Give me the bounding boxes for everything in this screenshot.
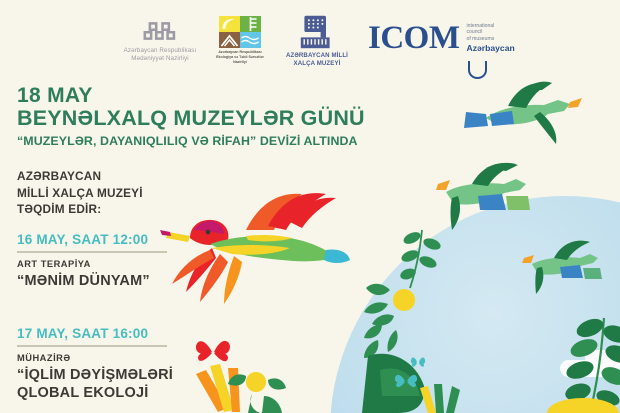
event-item: 17 MAY, SAAT 16:00 MÜHAZİRƏ “İQLİM DƏYİŞ… — [17, 326, 173, 402]
green-leaf-plants-illustration — [540, 318, 620, 413]
icom-wordmark: ICOM — [368, 22, 460, 55]
green-leaf-plants-illustration — [188, 352, 328, 413]
icom-subtitle-line: of museums — [467, 36, 515, 43]
red-and-teal-butterflies-illustration — [394, 372, 418, 390]
logo-caption-line: Nazirliyi — [233, 60, 247, 64]
icom-subtitle-line: council — [467, 29, 515, 36]
icom-country: Azərbaycan — [467, 43, 515, 54]
event-name: “MƏNİM DÜNYAM” — [17, 272, 167, 290]
light-blue-sky-circle — [330, 196, 620, 413]
event-name-line: “İQLİM DƏYİŞMƏLƏRİ — [17, 366, 173, 384]
green-blue-flying-birds-illustration — [520, 238, 620, 298]
logo-row: Azərbaycan Respublikası Mədəniyyət Nazir… — [0, 8, 620, 66]
colorful-paradise-bird-illustration — [150, 192, 350, 312]
logo-caption-line: AZƏRBAYCAN MİLLİ — [286, 52, 348, 59]
logo-caption-line: Azərbaycan Respublikası — [218, 50, 261, 54]
event-name: “İQLİM DƏYİŞMƏLƏRİ QLOBAL EKOLOJİ — [17, 366, 173, 402]
page-title: BEYNƏLXALQ MUZEYLƏR GÜNÜ — [17, 106, 365, 131]
green-leaf-plants-illustration — [545, 392, 620, 413]
headline-motto: “MUZEYLƏR, DAYANIQLILIQ VƏ RİFAH” DEVİZİ… — [17, 134, 358, 148]
red-and-teal-butterflies-illustration — [410, 356, 426, 369]
logo-caption: AZƏRBAYCAN MİLLİ XALÇA MUZEYİ — [286, 52, 348, 68]
logo-caption: Azərbaycan Respublikası Mədəniyyət Nazir… — [124, 47, 197, 64]
presenter-line: AZƏRBAYCAN — [17, 168, 143, 185]
sun-quadrant — [219, 16, 240, 32]
logo-caption-line: Mədəniyyət Nazirliyi — [131, 55, 189, 62]
red-and-teal-butterflies-illustration — [196, 338, 230, 366]
white-cloud — [560, 360, 620, 377]
presenter-block: AZƏRBAYCAN MİLLİ XALÇA MUZEYİ TƏQDİM EDİ… — [17, 168, 143, 218]
interlaced-knot-icon — [141, 18, 179, 44]
four-quadrant-nature-icon — [219, 16, 261, 48]
logo-caption-line: XALÇA MUZEYİ — [294, 60, 341, 67]
presenter-line: MİLLİ XALÇA MUZEYİ — [17, 185, 143, 202]
poster-canvas: Azərbaycan Respublikası Mədəniyyət Nazir… — [0, 0, 620, 413]
green-blue-flying-birds-illustration — [432, 160, 552, 235]
icom-subtitle: international council of museums Azərbay… — [467, 23, 515, 55]
icom-wordmark-text: ICOM — [368, 22, 460, 55]
divider — [17, 251, 167, 253]
event-kind: ART TERAPİYA — [17, 259, 167, 269]
green-blue-flying-birds-illustration — [478, 78, 598, 146]
presenter-line: TƏQDİM EDİR: — [17, 201, 143, 218]
rolled-carpet-icon — [297, 14, 337, 50]
green-leaf-plants-illustration — [372, 278, 462, 413]
logo-caption-line: Ekologiya və Təbii Sərvətlər — [216, 55, 264, 59]
event-datetime: 17 MAY, SAAT 16:00 — [17, 326, 173, 341]
leaf-quadrant — [240, 16, 261, 32]
icom-subtitle-line: international — [467, 23, 515, 30]
divider — [17, 345, 167, 347]
headline-date: 18 MAY — [17, 84, 93, 108]
water-quadrant — [240, 32, 261, 48]
logo-ministry-of-culture: Azərbaycan Respublikası Mədəniyyət Nazir… — [104, 18, 216, 64]
green-leaf-plants-illustration — [402, 230, 442, 290]
logo-caption: Azərbaycan Respublikası Ekologiya və Təb… — [216, 50, 264, 64]
mountain-quadrant — [219, 32, 240, 48]
logo-icom: ICOM international council of museums Az… — [368, 22, 515, 55]
logo-caption-line: Azərbaycan Respublikası — [124, 47, 197, 54]
logo-ministry-of-ecology: Azərbaycan Respublikası Ekologiya və Təb… — [203, 16, 277, 64]
logo-carpet-museum: AZƏRBAYCAN MİLLİ XALÇA MUZEYİ — [278, 14, 356, 68]
event-datetime: 16 MAY, SAAT 12:00 — [17, 232, 167, 247]
event-item: 16 MAY, SAAT 12:00 ART TERAPİYA “MƏNİM D… — [17, 232, 167, 290]
green-leaf-plants-illustration — [418, 382, 478, 413]
white-cloud — [585, 350, 620, 366]
event-name-line: QLOBAL EKOLOJİ — [17, 384, 173, 402]
event-kind: MÜHAZİRƏ — [17, 353, 173, 363]
